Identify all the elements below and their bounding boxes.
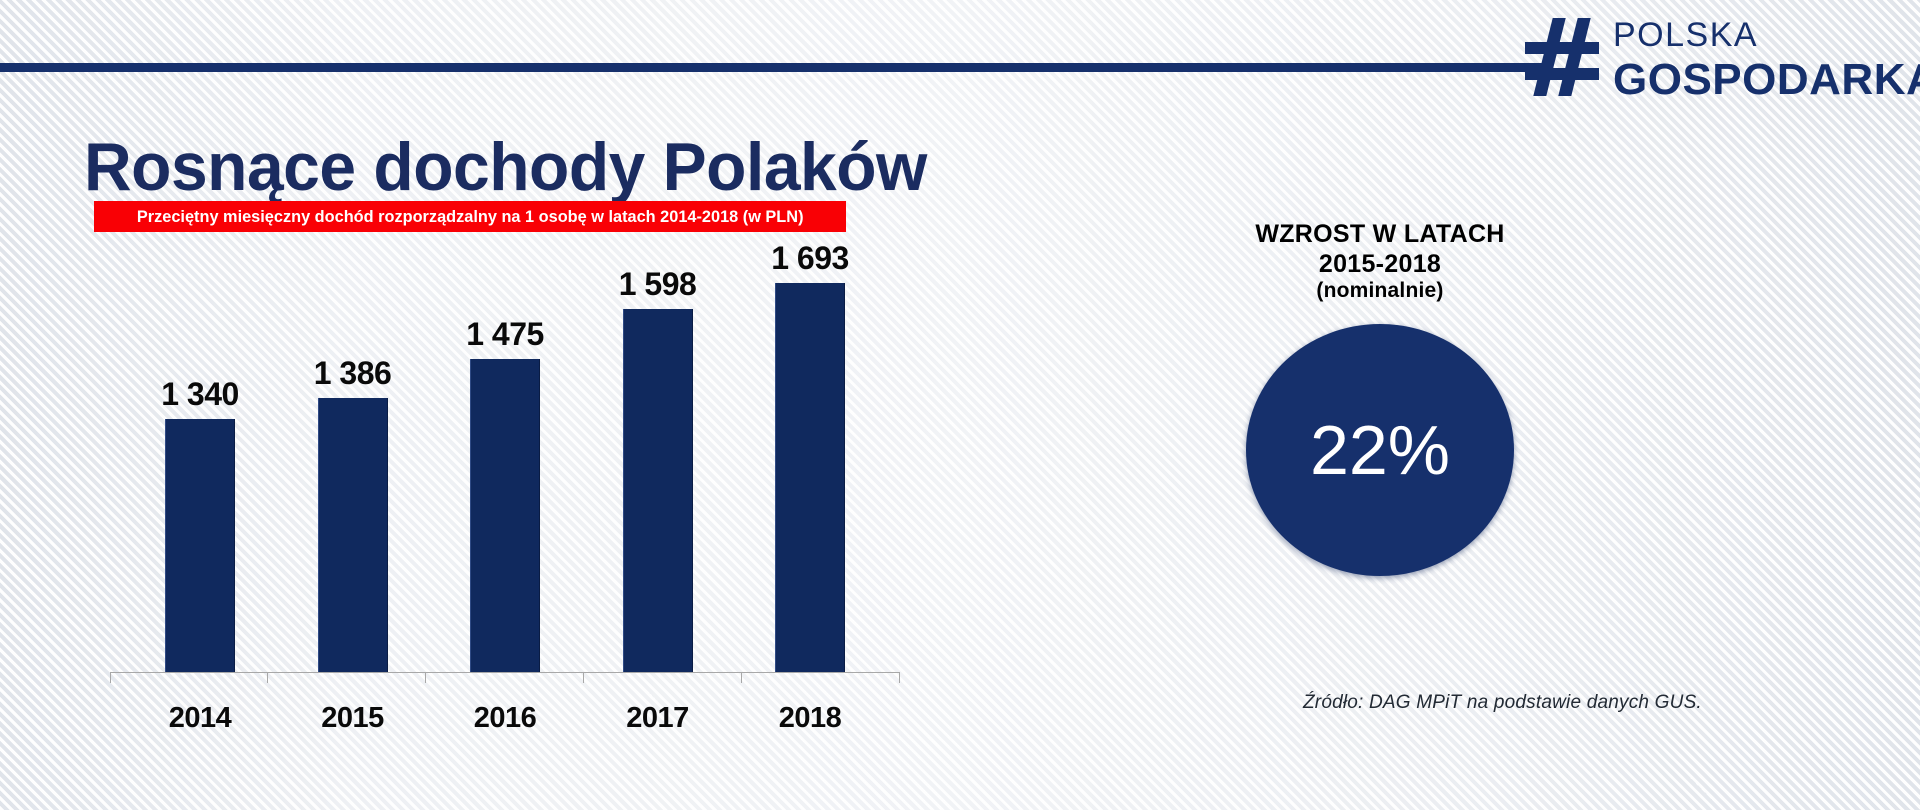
bar-chart: 1 340 1 386 1 475 1 598 1 693 bbox=[110, 240, 900, 700]
bar-value-label: 1 340 bbox=[161, 376, 239, 413]
growth-circle: 22% bbox=[1246, 324, 1514, 576]
bar-rect bbox=[775, 283, 845, 672]
source-note: Źródło: DAG MPiT na podstawie danych GUS… bbox=[1303, 692, 1702, 714]
subtitle-banner: Przeciętny miesięczny dochód rozporządza… bbox=[94, 201, 846, 232]
growth-heading-line2: 2015-2018 bbox=[1255, 250, 1504, 280]
bar-rect bbox=[318, 398, 388, 672]
infographic-canvas: POLSKA GOSPODARKA Rosnące dochody Polakó… bbox=[0, 0, 1920, 810]
bar-value-label: 1 598 bbox=[619, 266, 697, 303]
x-axis-label-2018: 2018 bbox=[740, 702, 880, 735]
brand-logo-line2: GOSPODARKA bbox=[1613, 58, 1920, 102]
growth-panel: WZROST W LATACH 2015-2018 (nominalnie) 2… bbox=[1060, 220, 1700, 576]
x-axis-label-2017: 2017 bbox=[588, 702, 728, 735]
bar-rect bbox=[470, 359, 540, 672]
bar-value-label: 1 693 bbox=[771, 240, 849, 277]
growth-percent-value: 22% bbox=[1310, 410, 1450, 490]
x-axis-labels: 2014 2015 2016 2017 2018 bbox=[110, 702, 900, 735]
brand-logo-words: POLSKA GOSPODARKA bbox=[1613, 16, 1920, 102]
header-rule bbox=[0, 63, 1545, 72]
growth-heading: WZROST W LATACH 2015-2018 (nominalnie) bbox=[1255, 220, 1504, 304]
growth-heading-line1: WZROST W LATACH bbox=[1255, 220, 1504, 250]
brand-logo-line1: POLSKA bbox=[1613, 18, 1920, 52]
x-axis-label-2015: 2015 bbox=[283, 702, 423, 735]
bar-group-2017: 1 598 bbox=[588, 240, 728, 672]
x-axis-line bbox=[110, 672, 900, 673]
page-title: Rosnące dochody Polaków bbox=[84, 128, 927, 206]
subtitle-banner-text: Przeciętny miesięczny dochód rozporządza… bbox=[137, 207, 804, 227]
x-axis-label-2016: 2016 bbox=[435, 702, 575, 735]
bar-chart-plot: 1 340 1 386 1 475 1 598 1 693 bbox=[110, 240, 900, 672]
brand-logo: POLSKA GOSPODARKA bbox=[1523, 16, 1920, 96]
bar-value-label: 1 386 bbox=[314, 355, 392, 392]
bar-group-2018: 1 693 bbox=[740, 240, 880, 672]
bar-group-2014: 1 340 bbox=[130, 240, 270, 672]
bar-group-2015: 1 386 bbox=[283, 240, 423, 672]
bar-value-label: 1 475 bbox=[466, 316, 544, 353]
x-axis-label-2014: 2014 bbox=[130, 702, 270, 735]
bar-rect bbox=[623, 309, 693, 672]
bar-rect bbox=[165, 419, 235, 672]
bar-group-2016: 1 475 bbox=[435, 240, 575, 672]
growth-heading-line3: (nominalnie) bbox=[1255, 279, 1504, 304]
hashtag-icon bbox=[1523, 16, 1601, 96]
